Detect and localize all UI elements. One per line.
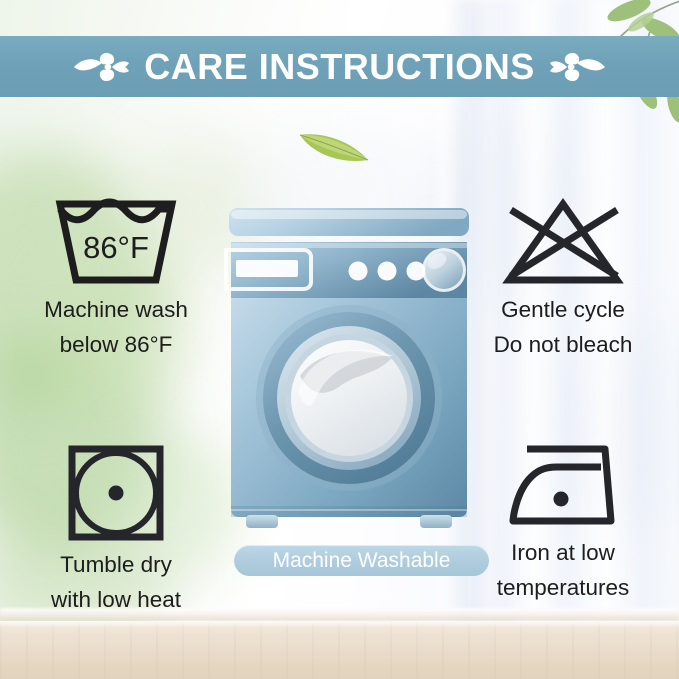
header-banner: CARE INSTRUCTIONS xyxy=(0,36,679,97)
care-symbol-caption: below 86°F xyxy=(8,331,224,358)
fleur-de-lis-ornament-icon xyxy=(549,50,607,84)
care-symbol-iron-low: Iron at low temperatures xyxy=(455,443,671,601)
machine-washable-badge: Machine Washable xyxy=(234,545,489,576)
care-symbol-caption: Machine wash xyxy=(8,296,224,323)
care-instructions-infographic: CARE INSTRUCTIONS 86°F Machine wash belo… xyxy=(0,0,679,679)
care-symbol-caption: temperatures xyxy=(455,574,671,601)
fleur-de-lis-ornament-icon xyxy=(72,50,130,84)
care-symbol-caption: Do not bleach xyxy=(455,331,671,358)
care-symbol-tumble-dry: Tumble dry with low heat xyxy=(8,443,224,613)
tumble-dry-square-icon xyxy=(8,443,224,543)
front-load-washing-machine-illustration xyxy=(224,206,474,531)
care-symbol-caption: with low heat xyxy=(8,586,224,613)
iron-icon xyxy=(455,443,671,531)
care-symbol-machine-wash: 86°F Machine wash below 86°F xyxy=(8,196,224,358)
care-symbol-gentle-cycle-no-bleach: Gentle cycle Do not bleach xyxy=(455,196,671,358)
badge-label: Machine Washable xyxy=(273,550,451,571)
wooden-table-surface xyxy=(0,621,679,679)
leaf-icon xyxy=(296,122,372,166)
care-symbol-caption: Gentle cycle xyxy=(455,296,671,323)
wash-tub-icon: 86°F xyxy=(8,196,224,288)
care-symbol-caption: Tumble dry xyxy=(8,551,224,578)
wash-temperature-value: 86°F xyxy=(83,230,149,265)
page-title: CARE INSTRUCTIONS xyxy=(144,49,535,85)
triangle-crossed-out-icon xyxy=(455,196,671,288)
